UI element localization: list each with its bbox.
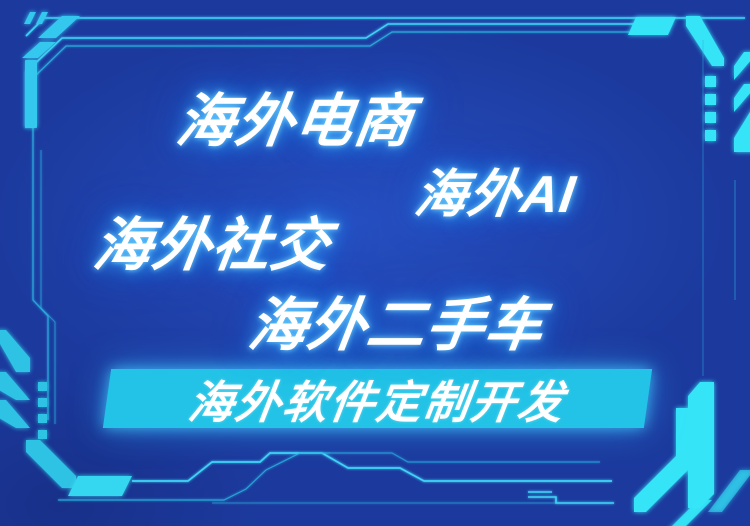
highlight-banner: 海外软件定制开发 <box>107 369 648 428</box>
headline-stack: 海外电商 海外AI 海外社交 海外二手车 <box>0 0 750 526</box>
headline-social: 海外社交 <box>89 198 337 282</box>
headline-ai: 海外AI <box>411 152 582 227</box>
headline-used-car: 海外二手车 <box>244 278 551 362</box>
tech-banner: 海外电商 海外AI 海外社交 海外二手车 海外软件定制开发 <box>0 0 750 526</box>
headline-ecommerce: 海外电商 <box>172 74 420 158</box>
highlight-banner-label: 海外软件定制开发 <box>103 369 652 428</box>
